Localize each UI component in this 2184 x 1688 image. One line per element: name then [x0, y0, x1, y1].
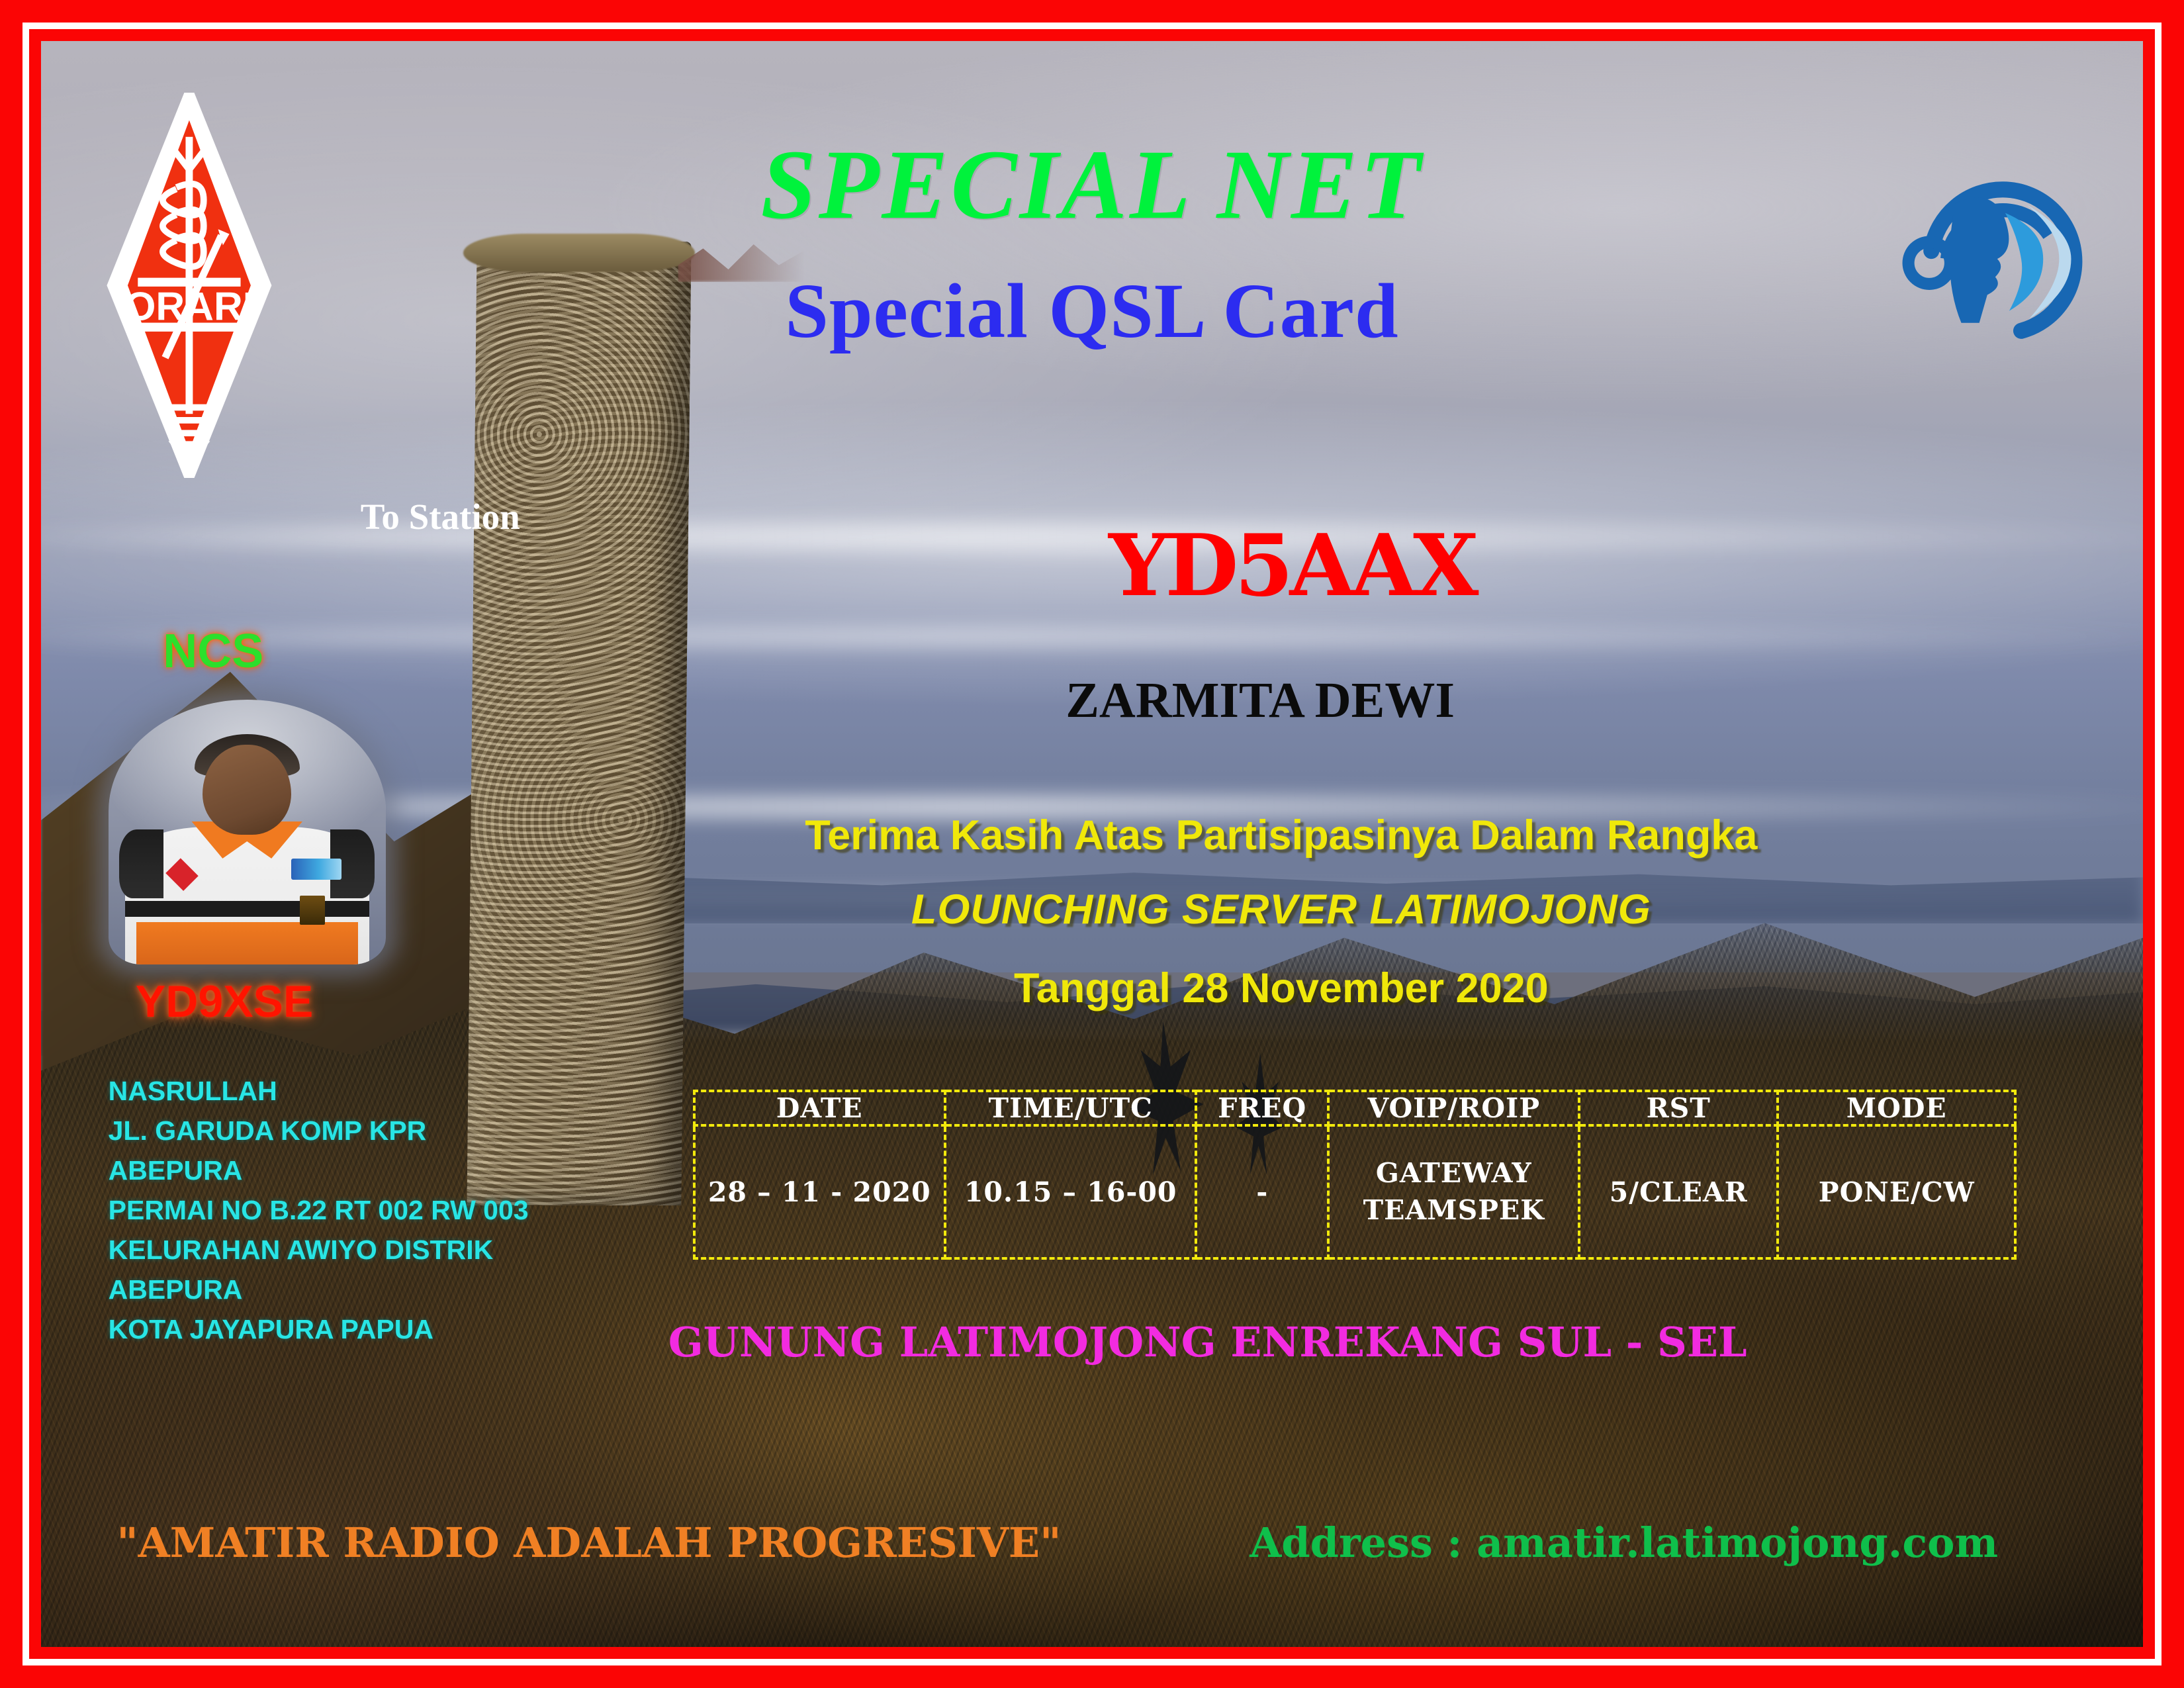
address-line: ABEPURA	[109, 1270, 529, 1310]
recipient-operator-name: ZARMITA DEWI	[209, 672, 2143, 729]
table-header-row: DATE TIME/UTC FREQ VOIP/ROIP RST MODE	[694, 1091, 2016, 1125]
cell-rst: 5/CLEAR	[1579, 1125, 1778, 1258]
cell-voip-line2: TEAMSPEK	[1330, 1192, 1578, 1229]
portrait-stripe	[125, 901, 369, 917]
address-line: NASRULLAH	[109, 1072, 529, 1111]
thanks-line-3: Tanggal 28 November 2020	[230, 964, 2143, 1012]
card-white-gap: ORARI SPECIAL NET Special QSL Card To St…	[23, 23, 2161, 1665]
motto-text: "AMATIR RADIO ADALAH PROGRESIVE"	[116, 1519, 1061, 1567]
portrait-emblem-icon	[291, 859, 341, 880]
address-line: PERMAI NO B.22 RT 002 RW 003	[109, 1191, 529, 1231]
website-address: Address : amatir.latimojong.com	[1250, 1519, 1998, 1567]
address-line: JL. GARUDA KOMP KPR	[109, 1111, 529, 1151]
cell-voip: GATEWAY TEAMSPEK	[1328, 1125, 1579, 1258]
content-layer: ORARI SPECIAL NET Special QSL Card To St…	[41, 41, 2143, 1647]
cell-time: 10.15 – 16-00	[945, 1125, 1196, 1258]
cell-voip-line1: GATEWAY	[1330, 1155, 1578, 1192]
page-subtitle-special-qsl: Special QSL Card	[41, 266, 2143, 356]
thanks-line-1: Terima Kasih Atas Partisipasinya Dalam R…	[230, 812, 2143, 859]
cell-mode: PONE/CW	[1778, 1125, 2015, 1258]
col-header-rst: RST	[1579, 1091, 1778, 1125]
col-header-voip: VOIP/ROIP	[1328, 1091, 1579, 1125]
cell-date: 28 – 11 - 2020	[694, 1125, 945, 1258]
portrait-shoulder-left	[119, 829, 163, 898]
operator-portrait	[109, 700, 386, 964]
ncs-address-block: NASRULLAH JL. GARUDA KOMP KPR ABEPURA PE…	[109, 1072, 529, 1349]
cell-freq: -	[1196, 1125, 1328, 1258]
portrait-waist	[136, 922, 358, 964]
card-background-photo: ORARI SPECIAL NET Special QSL Card To St…	[41, 41, 2143, 1647]
address-line: KELURAHAN AWIYO DISTRIK	[109, 1231, 529, 1270]
ncs-callsign: YD9XSE	[136, 976, 313, 1027]
location-line: GUNUNG LATIMOJONG ENREKANG SUL - SEL	[157, 1318, 2143, 1366]
page-title-special-net: SPECIAL NET	[41, 128, 2143, 242]
table-row: 28 – 11 - 2020 10.15 – 16-00 - GATEWAY T…	[694, 1125, 2016, 1258]
portrait-face	[203, 745, 291, 835]
qso-log-table: DATE TIME/UTC FREQ VOIP/ROIP RST MODE 28…	[693, 1090, 2017, 1260]
col-header-date: DATE	[694, 1091, 945, 1125]
col-header-mode: MODE	[1778, 1091, 2015, 1125]
thanks-line-2: LOUNCHING SERVER LATIMOJONG	[230, 886, 2143, 933]
portrait-id-card	[300, 896, 325, 925]
card-inner-red-border: ORARI SPECIAL NET Special QSL Card To St…	[29, 29, 2155, 1659]
col-header-time: TIME/UTC	[945, 1091, 1196, 1125]
qsl-card: ORARI SPECIAL NET Special QSL Card To St…	[0, 0, 2184, 1688]
col-header-freq: FREQ	[1196, 1091, 1328, 1125]
ncs-label: NCS	[163, 624, 263, 679]
recipient-callsign: YD5AAX	[241, 516, 2143, 616]
address-line: ABEPURA	[109, 1151, 529, 1191]
